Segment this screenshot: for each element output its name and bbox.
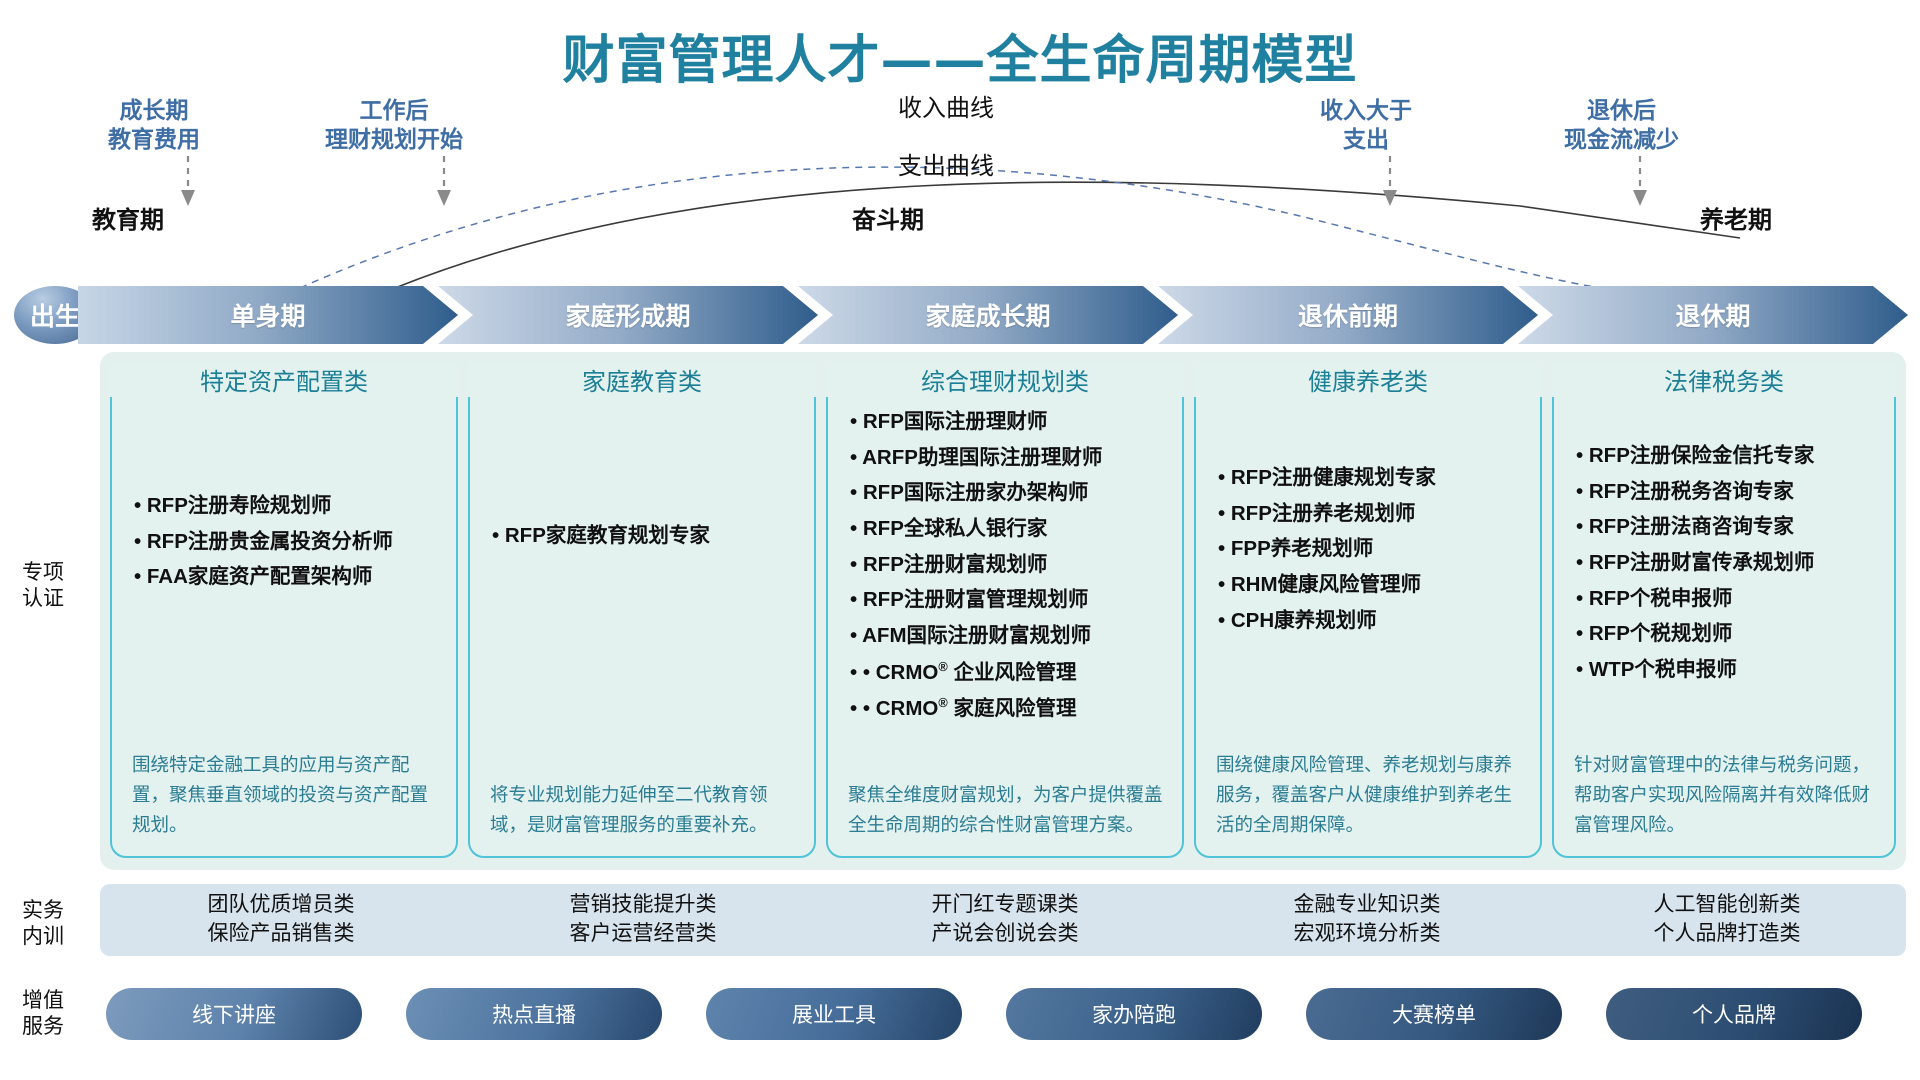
note-income-exceeds-expense: 收入大于 支出: [1320, 96, 1412, 154]
timeline-stage-family-growth[interactable]: 家庭成长期: [798, 286, 1178, 344]
row-label-certification: 专项 认证: [22, 560, 64, 613]
cert-item: RFP注册财富传承规划师: [1576, 549, 1882, 577]
card-title: 法律税务类: [1552, 362, 1896, 397]
cert-item: RFP国际注册理财师: [850, 408, 1170, 436]
cert-item: • CRMO® 企业风险管理: [850, 658, 1170, 687]
card-description: 围绕特定金融工具的应用与资产配置，聚焦垂直领域的投资与资产配置规划。: [132, 750, 440, 840]
timeline-stage-family-formation[interactable]: 家庭形成期: [438, 286, 818, 344]
training-line: 金融专业知识类: [1294, 891, 1441, 920]
era-label-education: 教育期: [92, 200, 164, 235]
income-curve-label: 收入曲线: [898, 88, 994, 123]
annotation-arrowhead-1: [181, 190, 195, 206]
training-line: 人工智能创新类: [1654, 891, 1801, 920]
annotation-arrowhead-2: [437, 190, 451, 206]
cert-item: RFP注册税务咨询专家: [1576, 478, 1882, 506]
timeline-stage-pre-retirement[interactable]: 退休前期: [1158, 286, 1538, 344]
timeline-stage-single[interactable]: 单身期: [78, 286, 458, 344]
card-title: 综合理财规划类: [826, 362, 1184, 397]
practical-training-band: 团队优质增员类 保险产品销售类 营销技能提升类 客户运营经营类 开门红专题课类 …: [100, 884, 1906, 956]
training-cell[interactable]: 营销技能提升类 客户运营经营类: [462, 884, 824, 956]
value-service-pill[interactable]: 家办陪跑: [1006, 988, 1262, 1040]
cert-item: RFP家庭教育规划专家: [492, 522, 802, 550]
training-line: 营销技能提升类: [570, 891, 717, 920]
training-line: 宏观环境分析类: [1294, 920, 1441, 949]
row-label-training: 实务 内训: [22, 898, 64, 951]
row-label-value-services: 增值 服务: [22, 988, 64, 1041]
note-growth-education: 成长期 教育费用: [108, 96, 200, 154]
training-cell[interactable]: 人工智能创新类 个人品牌打造类: [1548, 884, 1906, 956]
card-bullet-list: RFP国际注册理财师 ARFP助理国际注册理财师 RFP国际注册家办架构师 RF…: [850, 408, 1170, 723]
cert-item: RFP个税规划师: [1576, 620, 1882, 648]
timeline-stage-label: 家庭成长期: [925, 297, 1050, 333]
card-description: 围绕健康风险管理、养老规划与康养服务，覆盖客户从健康维护到养老生活的全周期保障。: [1216, 750, 1524, 840]
cert-item: RFP个税申报师: [1576, 585, 1882, 613]
income-curve-path: [395, 182, 1740, 288]
card-description: 将专业规划能力延伸至二代教育领域，是财富管理服务的重要补充。: [490, 780, 798, 840]
training-line: 保险产品销售类: [208, 920, 355, 949]
cert-item: RFP注册健康规划专家: [1218, 464, 1528, 492]
cert-card-legal-tax[interactable]: 法律税务类 RFP注册保险金信托专家 RFP注册税务咨询专家 RFP注册法商咨询…: [1552, 364, 1896, 858]
cert-card-family-education[interactable]: 家庭教育类 RFP家庭教育规划专家 将专业规划能力延伸至二代教育领域，是财富管理…: [468, 364, 816, 858]
timeline-stage-label: 单身期: [230, 297, 305, 333]
era-label-struggle: 奋斗期: [852, 200, 924, 235]
timeline-stage-label: 退休前期: [1298, 297, 1398, 333]
cert-item: RFP注册贵金属投资分析师: [134, 528, 444, 556]
lifecycle-timeline: 出生 单身期 家庭形成期 家庭成长期 退休前期 退休期: [0, 286, 1920, 344]
timeline-stage-label: 家庭形成期: [565, 297, 690, 333]
certification-band: 特定资产配置类 RFP注册寿险规划师 RFP注册贵金属投资分析师 FAA家庭资产…: [100, 352, 1906, 870]
card-title: 健康养老类: [1194, 362, 1542, 397]
card-bullet-list: RFP注册寿险规划师 RFP注册贵金属投资分析师 FAA家庭资产配置架构师: [134, 492, 444, 591]
annotation-arrowhead-4: [1633, 190, 1647, 206]
value-service-pill[interactable]: 热点直播: [406, 988, 662, 1040]
cert-item: RFP全球私人银行家: [850, 515, 1170, 543]
training-line: 客户运营经营类: [570, 920, 717, 949]
era-label-retirement: 养老期: [1700, 200, 1772, 235]
cert-item: RFP注册财富管理规划师: [850, 586, 1170, 614]
cert-item: • CRMO® 家庭风险管理: [850, 694, 1170, 723]
card-bullet-list: RFP家庭教育规划专家: [492, 522, 802, 550]
page-title: 财富管理人才——全生命周期模型: [0, 18, 1920, 93]
timeline-stage-label: 退休期: [1675, 297, 1750, 333]
card-bullet-list: RFP注册保险金信托专家 RFP注册税务咨询专家 RFP注册法商咨询专家 RFP…: [1576, 442, 1882, 684]
value-service-pill[interactable]: 线下讲座: [106, 988, 362, 1040]
annotation-arrowhead-3: [1383, 190, 1397, 206]
training-line: 开门红专题课类: [932, 891, 1079, 920]
note-work-planning-start: 工作后 理财规划开始: [325, 96, 463, 154]
cert-item: RFP注册寿险规划师: [134, 492, 444, 520]
note-retirement-cashflow-drop: 退休后 现金流减少: [1564, 96, 1679, 154]
card-description: 聚焦全维度财富规划，为客户提供覆盖全生命周期的综合性财富管理方案。: [848, 780, 1166, 840]
cert-item: AFM国际注册财富规划师: [850, 622, 1170, 650]
card-description: 针对财富管理中的法律与税务问题，帮助客户实现风险隔离并有效降低财富管理风险。: [1574, 750, 1878, 840]
cert-card-health-retirement[interactable]: 健康养老类 RFP注册健康规划专家 RFP注册养老规划师 FPP养老规划师 RH…: [1194, 364, 1542, 858]
value-service-pill[interactable]: 大赛榜单: [1306, 988, 1562, 1040]
cert-item: RFP注册财富规划师: [850, 551, 1170, 579]
cert-item: RFP注册法商咨询专家: [1576, 513, 1882, 541]
card-title: 家庭教育类: [468, 362, 816, 397]
cert-item: RFP国际注册家办架构师: [850, 479, 1170, 507]
cert-item: RFP注册保险金信托专家: [1576, 442, 1882, 470]
timeline-stage-retirement[interactable]: 退休期: [1518, 286, 1908, 344]
value-service-pill[interactable]: 个人品牌: [1606, 988, 1862, 1040]
cert-item: FPP养老规划师: [1218, 535, 1528, 563]
expense-curve-label: 支出曲线: [898, 146, 994, 181]
cert-card-asset-allocation[interactable]: 特定资产配置类 RFP注册寿险规划师 RFP注册贵金属投资分析师 FAA家庭资产…: [110, 364, 458, 858]
cert-item: WTP个税申报师: [1576, 656, 1882, 684]
training-cell[interactable]: 金融专业知识类 宏观环境分析类: [1186, 884, 1548, 956]
cert-item: CPH康养规划师: [1218, 607, 1528, 635]
card-bullet-list: RFP注册健康规划专家 RFP注册养老规划师 FPP养老规划师 RHM健康风险管…: [1218, 464, 1528, 634]
training-line: 个人品牌打造类: [1654, 920, 1801, 949]
card-title: 特定资产配置类: [110, 362, 458, 397]
cert-card-comprehensive-planning[interactable]: 综合理财规划类 RFP国际注册理财师 ARFP助理国际注册理财师 RFP国际注册…: [826, 364, 1184, 858]
training-cell[interactable]: 团队优质增员类 保险产品销售类: [100, 884, 462, 956]
lifecycle-curve-area: 收入曲线 支出曲线 成长期 教育费用 工作后 理财规划开始 收入大于 支出 退休…: [0, 88, 1920, 288]
training-line: 团队优质增员类: [208, 891, 355, 920]
training-cell[interactable]: 开门红专题课类 产说会创说会类: [824, 884, 1186, 956]
cert-item: RHM健康风险管理师: [1218, 571, 1528, 599]
value-service-pill[interactable]: 展业工具: [706, 988, 962, 1040]
cert-item: ARFP助理国际注册理财师: [850, 444, 1170, 472]
cert-item: FAA家庭资产配置架构师: [134, 563, 444, 591]
cert-item: RFP注册养老规划师: [1218, 500, 1528, 528]
training-line: 产说会创说会类: [932, 920, 1079, 949]
